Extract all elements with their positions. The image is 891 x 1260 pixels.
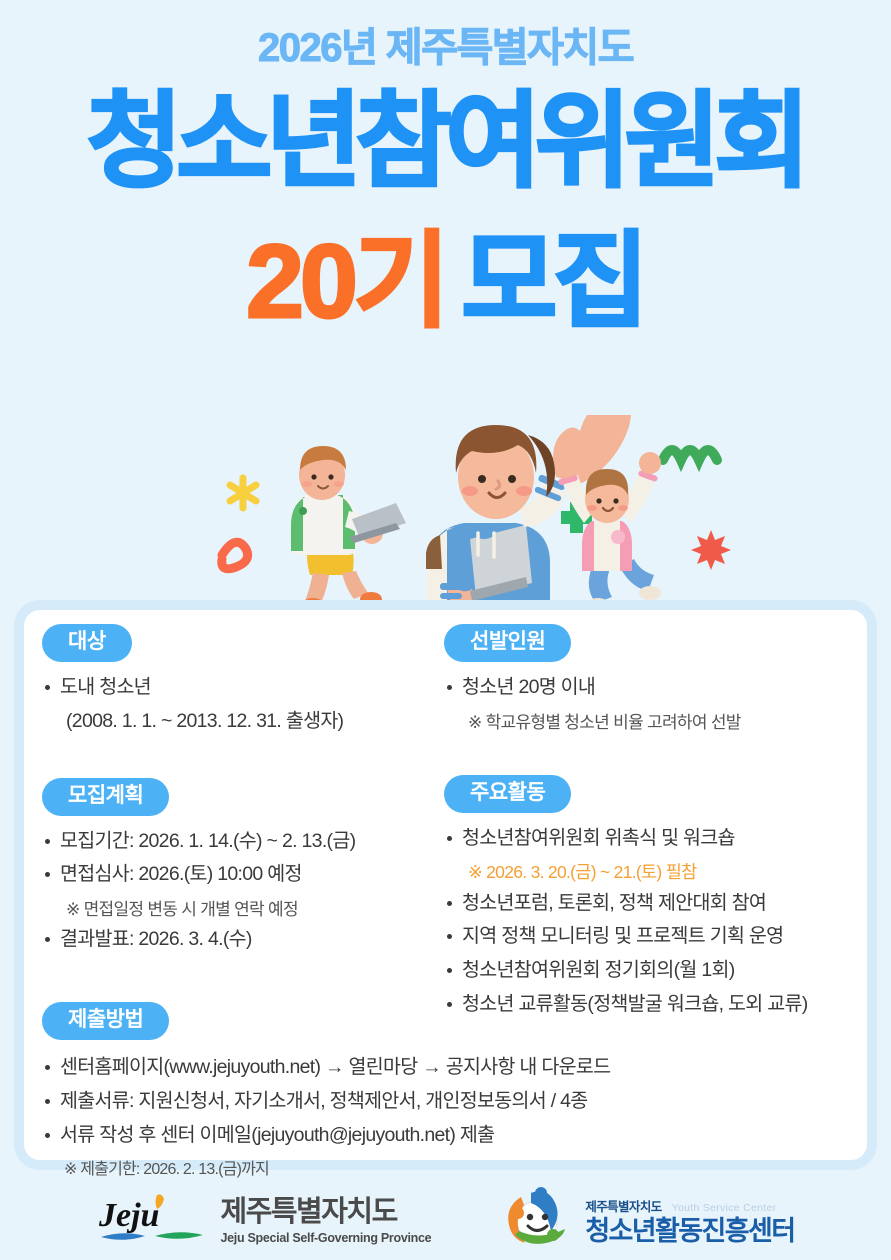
- yellow-asterisk-icon: [230, 478, 256, 508]
- list-item: 모집기간: 2026. 1. 14.(수) ~ 2. 13.(금): [42, 828, 452, 856]
- character-girl-jumping: [555, 452, 661, 612]
- poster-footer: Jeju 제주특별자치도 Jeju Special Self-Governing…: [0, 1183, 891, 1260]
- section-target-pill: 대상: [42, 624, 132, 662]
- youth-center-prefix-english: Youth Service Center: [672, 1202, 777, 1214]
- card-right-column: 선발인원 청소년 20명 이내 ※ 학교유형별 청소년 비율 고려하여 선발 주…: [444, 624, 864, 1038]
- poster-headline: 청소년참여위원회: [0, 90, 891, 194]
- green-clover-icon: [561, 502, 592, 533]
- section-plan-list: 모집기간: 2026. 1. 14.(수) ~ 2. 13.(금) 면접심사: …: [42, 828, 452, 889]
- poster-kicker: 2026년 제주특별자치도: [0, 28, 891, 68]
- section-target: 대상 도내 청소년 (2008. 1. 1. ~ 2013. 12. 31. 출…: [42, 624, 452, 736]
- list-item: 면접심사: 2026.(토) 10:00 예정: [42, 861, 452, 889]
- poster-ordinal: 20기: [246, 224, 445, 340]
- poster-subline: 20기모집: [0, 230, 891, 334]
- jeju-logo-english: Jeju Special Self-Governing Province: [221, 1231, 432, 1245]
- list-item: 지역 정책 모니터링 및 프로젝트 기획 운영: [444, 923, 864, 951]
- list-item: 청소년참여위원회 위촉식 및 워크숍: [444, 825, 864, 853]
- info-card: 대상 도내 청소년 (2008. 1. 1. ~ 2013. 12. 31. 출…: [14, 600, 877, 1170]
- jeju-province-logo: Jeju 제주특별자치도 Jeju Special Self-Governing…: [97, 1193, 432, 1250]
- jeju-logo-text: 제주특별자치도 Jeju Special Self-Governing Prov…: [221, 1198, 432, 1245]
- list-item: 서류 작성 후 센터 이메일(jejuyouth@jejuyouth.net) …: [42, 1122, 862, 1150]
- section-activities-note: ※ 2026. 3. 20.(금) ~ 21.(토) 필참: [444, 859, 864, 884]
- section-selection: 선발인원 청소년 20명 이내 ※ 학교유형별 청소년 비율 고려하여 선발: [444, 624, 864, 733]
- character-boy-with-laptop: [291, 446, 406, 612]
- section-target-list: 도내 청소년 (2008. 1. 1. ~ 2013. 12. 31. 출생자): [42, 674, 452, 735]
- section-selection-note: ※ 학교유형별 청소년 비율 고려하여 선발: [444, 708, 864, 733]
- poster-header: 2026년 제주특별자치도 청소년참여위원회 20기모집: [0, 0, 891, 334]
- youth-center-text: 제주특별자치도 Youth Service Center 청소년활동진흥센터: [585, 1196, 794, 1247]
- list-item: 센터홈페이지(www.jejuyouth.net) → 열린마당 → 공지사항 …: [42, 1054, 862, 1082]
- section-plan-list-after: 결과발표: 2026. 3. 4.(수): [42, 926, 452, 954]
- section-submission-note: ※ 제출기한: 2026. 2. 13.(금)까지: [42, 1155, 862, 1179]
- section-activities-list: 청소년참여위원회 위촉식 및 워크숍: [444, 825, 864, 853]
- list-item: 청소년포럼, 토론회, 정책 제안대회 참여: [444, 890, 864, 918]
- section-plan-note: ※ 면접일정 변동 시 개별 연락 예정: [42, 895, 452, 920]
- section-submission: 제출방법 센터홈페이지(www.jejuyouth.net) → 열린마당 → …: [42, 1002, 862, 1179]
- section-activities-pill: 주요활동: [444, 775, 571, 813]
- section-submission-list: 센터홈페이지(www.jejuyouth.net) → 열린마당 → 공지사항 …: [42, 1054, 862, 1149]
- section-submission-pill: 제출방법: [42, 1002, 169, 1040]
- section-activities-list-after: 청소년포럼, 토론회, 정책 제안대회 참여 지역 정책 모니터링 및 프로젝트…: [444, 890, 864, 1019]
- jeju-logo-korean: 제주특별자치도: [221, 1198, 432, 1227]
- youth-center-emblem-icon: [501, 1187, 573, 1256]
- section-plan-pill: 모집계획: [42, 778, 169, 816]
- section-plan: 모집계획 모집기간: 2026. 1. 14.(수) ~ 2. 13.(금) 면…: [42, 778, 452, 954]
- poster-recruit-word: 모집: [462, 224, 645, 340]
- youth-illustration: [0, 415, 891, 615]
- section-selection-pill: 선발인원: [444, 624, 571, 662]
- youth-center-logo: 제주특별자치도 Youth Service Center 청소년활동진흥센터: [501, 1187, 794, 1256]
- character-girl-waving: [426, 415, 631, 615]
- youth-center-prefix-korean: 제주특별자치도: [585, 1196, 661, 1215]
- youth-center-name: 청소년활동진흥센터: [585, 1217, 794, 1247]
- jeju-wordmark-icon: Jeju: [97, 1193, 209, 1250]
- list-item: (2008. 1. 1. ~ 2013. 12. 31. 출생자): [42, 708, 452, 736]
- red-starburst-icon: [691, 530, 731, 570]
- section-activities: 주요활동 청소년참여위원회 위촉식 및 워크숍 ※ 2026. 3. 20.(금…: [444, 775, 864, 1019]
- list-item: 청소년참여위원회 정기회의(월 1회): [444, 957, 864, 985]
- svg-text:Jeju: Jeju: [98, 1197, 159, 1234]
- list-item: 도내 청소년: [42, 674, 452, 702]
- list-item: 결과발표: 2026. 3. 4.(수): [42, 926, 452, 954]
- section-selection-list: 청소년 20명 이내: [444, 674, 864, 702]
- list-item: 청소년 20명 이내: [444, 674, 864, 702]
- card-left-column: 대상 도내 청소년 (2008. 1. 1. ~ 2013. 12. 31. 출…: [42, 624, 452, 974]
- orange-squiggle-icon: [222, 542, 248, 569]
- green-squiggle-icon: [663, 450, 717, 460]
- list-item: 제출서류: 지원신청서, 자기소개서, 정책제안서, 개인정보동의서 / 4종: [42, 1088, 862, 1116]
